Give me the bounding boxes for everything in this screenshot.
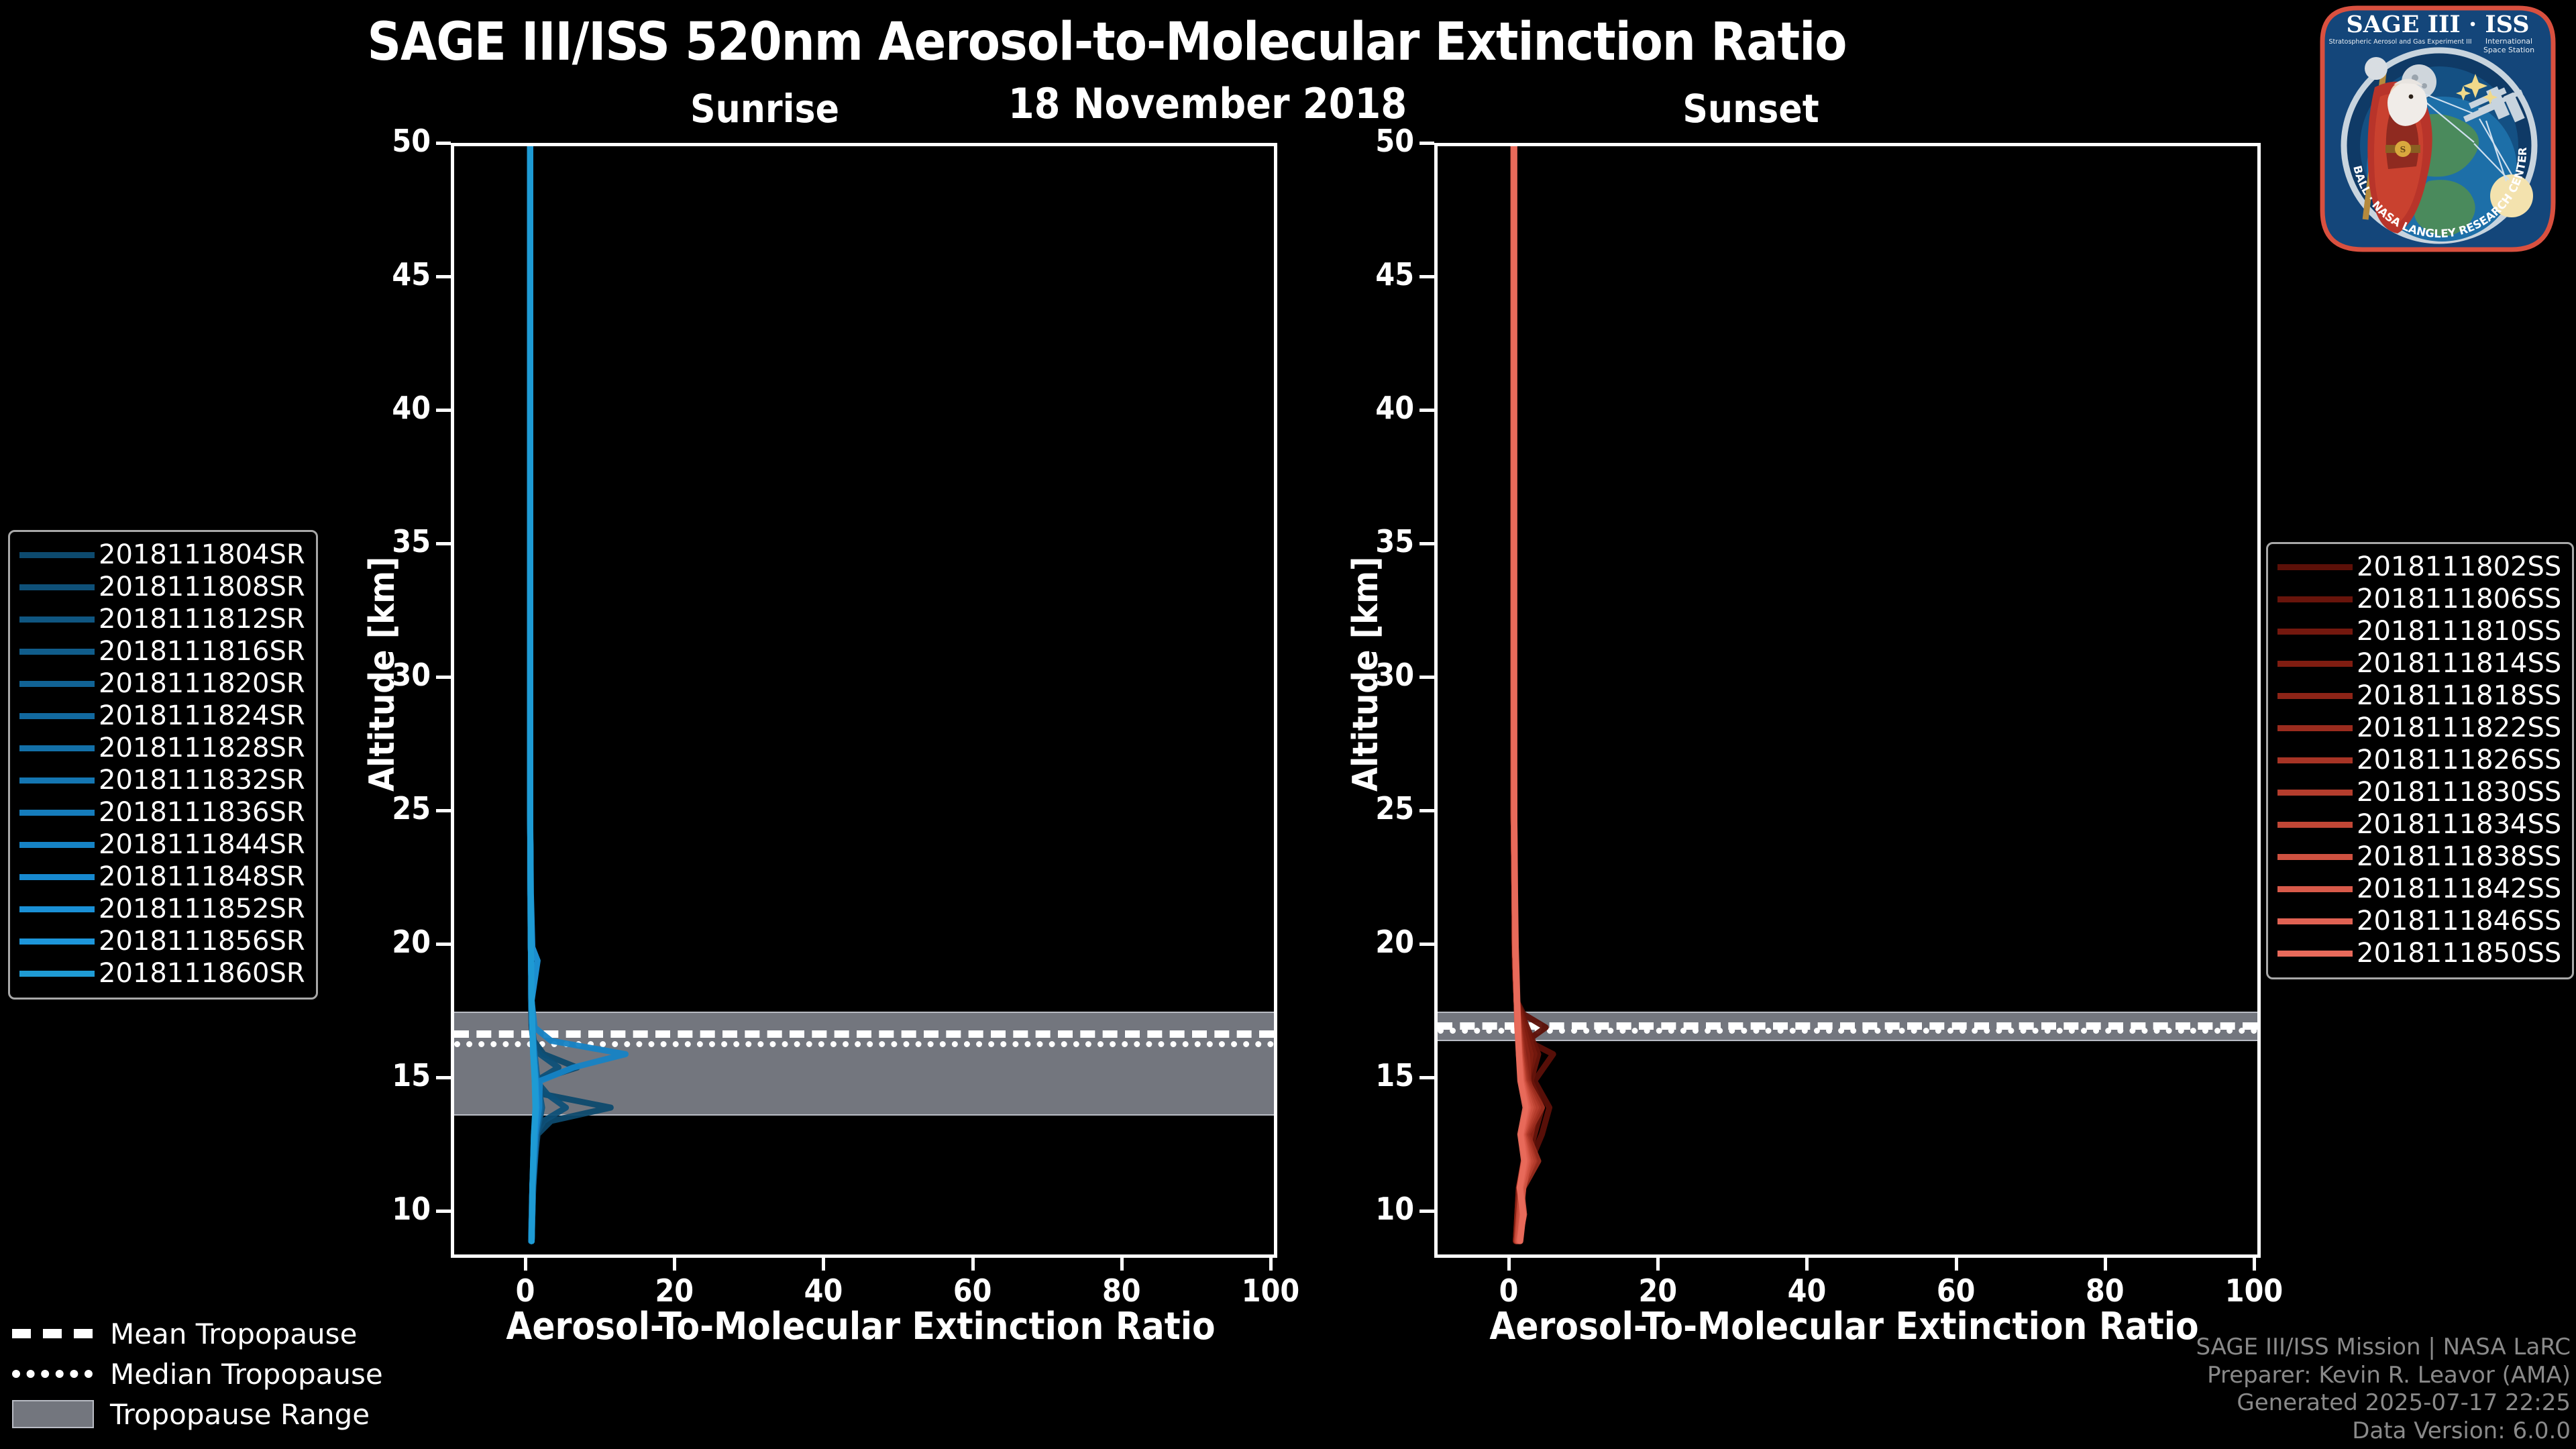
x-tick-label: 0 <box>478 1273 572 1309</box>
legend-item-label: 2018111856SR <box>99 925 305 957</box>
legend-color-swatch <box>2277 680 2357 712</box>
tropopause-range-swatch <box>12 1394 99 1434</box>
legend-item-tropopause-range[interactable]: Tropopause Range <box>12 1394 383 1434</box>
x-tick-label: 20 <box>1611 1273 1705 1309</box>
legend-item-mean-tropopause[interactable]: Mean Tropopause <box>12 1313 383 1354</box>
x-tick-mark <box>2104 1254 2107 1271</box>
median-tropopause-swatch <box>12 1354 99 1394</box>
y-tick-mark <box>1419 1076 1434 1079</box>
credits-block: SAGE III/ISS Mission | NASA LaRCPreparer… <box>2196 1334 2571 1445</box>
y-tick-mark <box>436 943 451 946</box>
legend-item-median-tropopause[interactable]: Median Tropopause <box>12 1354 383 1394</box>
legend-color-swatch <box>2277 937 2357 969</box>
legend-item-label: 2018111842SS <box>2357 873 2561 905</box>
legend-item-label: 2018111808SR <box>99 571 305 603</box>
legend-item-label: 2018111850SS <box>2357 937 2561 969</box>
legend-color-swatch <box>19 700 99 732</box>
x-tick-mark <box>524 1254 527 1271</box>
legend-color-swatch <box>19 796 99 828</box>
y-tick-mark <box>1419 142 1434 145</box>
y-axis-label-sunset: Altitude [km] <box>1346 557 1386 792</box>
legend-item-label: 2018111846SS <box>2357 905 2561 937</box>
legend-item-label: 2018111844SR <box>99 828 305 861</box>
legend-item[interactable]: 2018111810SS <box>2277 615 2561 647</box>
legend-color-swatch <box>2277 744 2357 776</box>
profile-curves-sunset <box>1438 146 2257 1254</box>
y-tick-mark <box>436 409 451 412</box>
y-tick-mark <box>1419 943 1434 946</box>
y-axis-label-sunrise: Altitude [km] <box>362 557 402 792</box>
sage-iii-iss-mission-patch-icon: S SAGE III · ISS Stratospheric Aerosol a… <box>2310 1 2565 256</box>
x-axis-label-sunset: Aerosol-To-Molecular Extinction Ratio <box>1434 1305 2254 1348</box>
y-tick-label: 25 <box>357 790 431 826</box>
legend-color-swatch <box>19 539 99 571</box>
legend-item-label: 2018111860SR <box>99 957 305 989</box>
y-tick-mark <box>436 142 451 145</box>
tropopause-range-label: Tropopause Range <box>99 1394 383 1434</box>
legend-item-label: 2018111832SR <box>99 764 305 796</box>
patch-subtitle-left: Stratospheric Aerosol and Gas Experiment… <box>2328 38 2471 46</box>
x-tick-label: 60 <box>926 1273 1020 1309</box>
y-tick-mark <box>1419 542 1434 545</box>
legend-item-label: 2018111826SS <box>2357 744 2561 776</box>
y-tick-label: 20 <box>1340 924 1414 960</box>
y-tick-mark <box>1419 275 1434 278</box>
legend-item-label: 2018111838SS <box>2357 841 2561 873</box>
legend-item[interactable]: 2018111850SS <box>2277 937 2561 969</box>
y-tick-label: 10 <box>357 1191 431 1227</box>
legend-item[interactable]: 2018111860SR <box>19 957 305 989</box>
y-tick-mark <box>436 542 451 545</box>
y-tick-mark <box>436 809 451 812</box>
x-tick-mark <box>1120 1254 1124 1271</box>
plot-area-sunset[interactable] <box>1434 143 2261 1258</box>
legend-color-swatch <box>19 732 99 764</box>
patch-subtitle-right-1: International <box>2485 37 2532 46</box>
legend-item[interactable]: 2018111856SR <box>19 925 305 957</box>
legend-item-label: 2018111824SR <box>99 700 305 732</box>
legend-color-swatch <box>19 571 99 603</box>
legend-item[interactable]: 2018111826SS <box>2277 744 2561 776</box>
y-tick-label: 45 <box>357 256 431 292</box>
legend-item[interactable]: 2018111846SS <box>2277 905 2561 937</box>
legend-item[interactable]: 2018111832SR <box>19 764 305 796</box>
legend-color-swatch <box>2277 551 2357 583</box>
y-tick-mark <box>436 1076 451 1079</box>
y-tick-label: 50 <box>357 123 431 159</box>
legend-item[interactable]: 2018111812SR <box>19 603 305 635</box>
legend-item[interactable]: 2018111834SS <box>2277 808 2561 841</box>
median-tropopause-label: Median Tropopause <box>99 1354 383 1394</box>
legend-item-label: 2018111810SS <box>2357 615 2561 647</box>
y-tick-label: 25 <box>1340 790 1414 826</box>
chart-date: 18 November 2018 <box>906 79 1509 128</box>
legend-color-swatch <box>19 667 99 700</box>
legend-item-label: 2018111836SR <box>99 796 305 828</box>
legend-color-swatch <box>2277 647 2357 680</box>
legend-item-label: 2018111830SS <box>2357 776 2561 808</box>
legend-item[interactable]: 2018111842SS <box>2277 873 2561 905</box>
legend-color-swatch <box>19 603 99 635</box>
legend-tropopause[interactable]: Mean Tropopause Median Tropopause Tropop… <box>12 1313 383 1434</box>
x-tick-mark <box>1269 1254 1273 1271</box>
y-tick-label: 40 <box>1340 390 1414 426</box>
legend-item[interactable]: 2018111830SS <box>2277 776 2561 808</box>
legend-color-swatch <box>19 764 99 796</box>
x-tick-label: 100 <box>1224 1273 1318 1309</box>
panel-label-sunrise: Sunrise <box>624 86 906 131</box>
panel-label-sunset: Sunset <box>1610 86 1892 131</box>
y-tick-label: 35 <box>1340 523 1414 559</box>
x-tick-label: 0 <box>1462 1273 1556 1309</box>
profile-curves-sunrise <box>454 146 1274 1254</box>
legend-item[interactable]: 2018111802SS <box>2277 551 2561 583</box>
patch-title: SAGE III · ISS <box>2346 11 2529 38</box>
legend-item-label: 2018111806SS <box>2357 583 2561 615</box>
x-tick-mark <box>2253 1254 2256 1271</box>
y-tick-mark <box>436 676 451 679</box>
legend-item[interactable]: 2018111808SR <box>19 571 305 603</box>
legend-item[interactable]: 2018111818SS <box>2277 680 2561 712</box>
x-tick-mark <box>1805 1254 1809 1271</box>
legend-item[interactable]: 2018111806SS <box>2277 583 2561 615</box>
legend-item[interactable]: 2018111822SS <box>2277 712 2561 744</box>
legend-item[interactable]: 2018111852SR <box>19 893 305 925</box>
x-tick-mark <box>971 1254 975 1271</box>
y-tick-label: 15 <box>357 1057 431 1093</box>
legend-color-swatch <box>2277 776 2357 808</box>
y-tick-label: 35 <box>357 523 431 559</box>
svg-text:S: S <box>2400 145 2406 154</box>
legend-item-label: 2018111828SR <box>99 732 305 764</box>
legend-color-swatch <box>19 635 99 667</box>
legend-color-swatch <box>19 828 99 861</box>
legend-color-swatch <box>19 861 99 893</box>
legend-color-swatch <box>19 957 99 989</box>
legend-item-label: 2018111834SS <box>2357 808 2561 841</box>
y-tick-label: 10 <box>1340 1191 1414 1227</box>
x-tick-mark <box>673 1254 676 1271</box>
y-tick-mark <box>1419 1210 1434 1213</box>
page-title: SAGE III/ISS 520nm Aerosol-to-Molecular … <box>0 12 2214 72</box>
legend-color-swatch <box>19 925 99 957</box>
legend-item-label: 2018111802SS <box>2357 551 2561 583</box>
legend-item[interactable]: 2018111848SR <box>19 861 305 893</box>
legend-color-swatch <box>2277 873 2357 905</box>
y-tick-label: 15 <box>1340 1057 1414 1093</box>
credits-line: Data Version: 6.0.0 <box>2196 1417 2571 1445</box>
legend-item-label: 2018111804SR <box>99 539 305 571</box>
x-tick-mark <box>822 1254 825 1271</box>
mean-tropopause-swatch <box>12 1313 99 1354</box>
credits-line: Generated 2025-07-17 22:25 <box>2196 1389 2571 1417</box>
legend-item-label: 2018111820SR <box>99 667 305 700</box>
x-tick-mark <box>1507 1254 1511 1271</box>
y-tick-mark <box>436 275 451 278</box>
legend-color-swatch <box>2277 808 2357 841</box>
legend-color-swatch <box>2277 712 2357 744</box>
patch-subtitle-right-2: Space Station <box>2483 46 2534 54</box>
legend-item[interactable]: 2018111828SR <box>19 732 305 764</box>
x-axis-label-sunrise: Aerosol-To-Molecular Extinction Ratio <box>451 1305 1271 1348</box>
x-tick-label: 100 <box>2207 1273 2301 1309</box>
legend-color-swatch <box>19 893 99 925</box>
y-tick-label: 20 <box>357 924 431 960</box>
x-tick-label: 80 <box>2058 1273 2152 1309</box>
x-tick-label: 40 <box>776 1273 870 1309</box>
x-tick-mark <box>1955 1254 1958 1271</box>
legend-item-label: 2018111848SR <box>99 861 305 893</box>
legend-item-label: 2018111852SR <box>99 893 305 925</box>
legend-item[interactable]: 2018111838SS <box>2277 841 2561 873</box>
legend-item[interactable]: 2018111824SR <box>19 700 305 732</box>
legend-item[interactable]: 2018111820SR <box>19 667 305 700</box>
y-tick-mark <box>1419 809 1434 812</box>
x-tick-mark <box>1656 1254 1660 1271</box>
y-tick-label: 40 <box>357 390 431 426</box>
legend-item[interactable]: 2018111836SR <box>19 796 305 828</box>
legend-item[interactable]: 2018111804SR <box>19 539 305 571</box>
plot-area-sunrise[interactable] <box>451 143 1277 1258</box>
legend-color-swatch <box>2277 905 2357 937</box>
legend-item-label: 2018111822SS <box>2357 712 2561 744</box>
y-tick-mark <box>1419 409 1434 412</box>
legend-item-label: 2018111818SS <box>2357 680 2561 712</box>
mean-tropopause-label: Mean Tropopause <box>99 1313 383 1354</box>
y-tick-mark <box>436 1210 451 1213</box>
legend-sunrise[interactable]: 2018111804SR2018111808SR2018111812SR2018… <box>8 530 318 1000</box>
x-tick-label: 80 <box>1075 1273 1169 1309</box>
y-tick-label: 50 <box>1340 123 1414 159</box>
legend-color-swatch <box>2277 583 2357 615</box>
x-tick-label: 20 <box>627 1273 721 1309</box>
legend-color-swatch <box>2277 841 2357 873</box>
legend-item-label: 2018111814SS <box>2357 647 2561 680</box>
legend-item-label: 2018111816SR <box>99 635 305 667</box>
credits-line: Preparer: Kevin R. Leavor (AMA) <box>2196 1362 2571 1389</box>
credits-line: SAGE III/ISS Mission | NASA LaRC <box>2196 1334 2571 1361</box>
legend-item[interactable]: 2018111816SR <box>19 635 305 667</box>
x-tick-label: 60 <box>1909 1273 2003 1309</box>
legend-item[interactable]: 2018111814SS <box>2277 647 2561 680</box>
y-tick-mark <box>1419 676 1434 679</box>
y-tick-label: 45 <box>1340 256 1414 292</box>
x-tick-label: 40 <box>1760 1273 1854 1309</box>
legend-color-swatch <box>2277 615 2357 647</box>
legend-sunset[interactable]: 2018111802SS2018111806SS2018111810SS2018… <box>2266 542 2574 979</box>
legend-item-label: 2018111812SR <box>99 603 305 635</box>
legend-item[interactable]: 2018111844SR <box>19 828 305 861</box>
